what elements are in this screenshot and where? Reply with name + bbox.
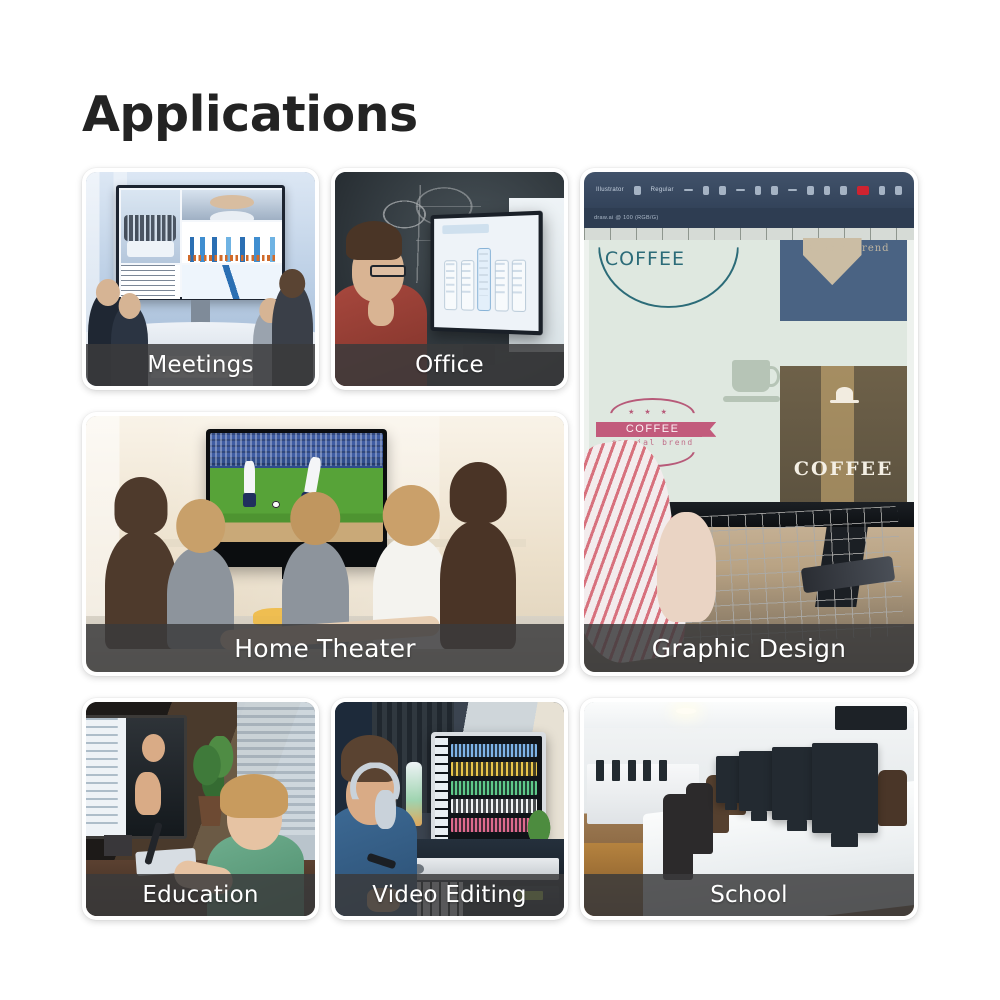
application-card-office[interactable]: Office	[331, 168, 568, 390]
artboard-navy-envelope: special brend	[780, 240, 907, 321]
badge-stars: ★ ★ ★	[628, 408, 671, 416]
video-tile-room	[121, 190, 180, 263]
card-label-video-editing: Video Editing	[335, 874, 564, 916]
signage-word: COFFEE	[780, 458, 907, 480]
ui-mockup-highlighted	[477, 248, 491, 310]
badge-word: COFFEE	[602, 423, 704, 435]
worker-hair	[346, 221, 402, 260]
viewer-head	[291, 492, 341, 545]
divider-icon	[684, 189, 693, 191]
align-icon[interactable]	[703, 186, 710, 195]
video-call-panel	[126, 718, 184, 836]
canvas-heading-coffee: COFFEE	[605, 248, 685, 270]
lab-chair	[663, 794, 693, 880]
back-monitor	[659, 760, 667, 780]
application-card-meetings[interactable]: Meetings	[82, 168, 319, 390]
layers-icon[interactable]	[895, 186, 902, 195]
navy-panel-text: special brend	[808, 243, 890, 254]
card-label-home-theater: Home Theater	[86, 624, 564, 672]
television	[206, 429, 388, 567]
viewer-head	[114, 477, 167, 534]
application-card-education[interactable]: Education	[82, 698, 319, 920]
attendee-head	[279, 269, 305, 298]
card-label-graphic-design: Graphic Design	[584, 624, 914, 672]
toolbar-style-label: Regular	[651, 187, 674, 193]
worker-hand	[368, 295, 394, 327]
stadium-crowd	[210, 433, 384, 466]
desktop-monitor	[430, 210, 542, 335]
applications-grid: Meetings	[82, 168, 918, 920]
card-image-school: School	[584, 702, 914, 916]
viewer-head	[176, 499, 226, 552]
ui-mockup	[511, 259, 525, 311]
document-tab-bar[interactable]: draw.ai @ 100 (RGB/G)	[584, 208, 914, 228]
viewer-head	[383, 485, 440, 546]
typing-hand	[657, 512, 716, 622]
application-card-home-theater[interactable]: Home Theater	[82, 412, 568, 676]
signage-light-strip	[821, 366, 854, 502]
conference-display	[116, 185, 285, 301]
viewer-head	[450, 462, 507, 523]
card-label-office: Office	[335, 344, 564, 386]
artboard-brown-signage: COFFEE	[780, 366, 907, 502]
desktop-monitor	[86, 715, 187, 839]
video-tile-bar-chart	[182, 222, 282, 262]
monitor-stand	[104, 835, 131, 856]
glasses-icon	[370, 265, 406, 277]
card-image-graphic-design: Illustrator Regular	[584, 172, 914, 672]
coffee-cup-icon	[732, 360, 770, 391]
teacher-hand	[135, 772, 160, 815]
transform-icon[interactable]	[719, 186, 726, 195]
back-monitor	[612, 760, 620, 780]
ui-mockup	[494, 259, 508, 311]
document-tab-label: draw.ai @ 100 (RGB/G)	[594, 215, 658, 221]
divider-icon	[788, 189, 797, 191]
saucer-shape	[723, 396, 780, 402]
waveform-track-2	[451, 762, 537, 776]
applications-page: Applications	[0, 0, 1000, 1000]
application-card-video-editing[interactable]: Video Editing	[331, 698, 568, 920]
teacher-face	[142, 734, 165, 762]
wall-mounted-display	[835, 706, 908, 730]
back-monitor	[628, 760, 636, 780]
ui-mockup	[444, 260, 457, 310]
fill-color-swatch[interactable]	[857, 186, 869, 195]
bowler-hat-icon	[836, 387, 853, 399]
waveform-track-1	[451, 744, 537, 758]
card-image-education: Education	[86, 702, 315, 916]
attendee-head	[96, 279, 120, 307]
card-image-meetings: Meetings	[86, 172, 315, 386]
video-tile-person	[182, 190, 282, 221]
scene-graphic-design: Illustrator Regular	[584, 172, 914, 672]
toolbar-app-name: Illustrator	[596, 187, 624, 193]
card-label-meetings: Meetings	[86, 344, 315, 386]
chevron-down-icon[interactable]	[634, 186, 641, 195]
canvas-ruler	[584, 228, 914, 240]
arrange-icon[interactable]	[771, 186, 778, 195]
card-image-video-editing: Video Editing	[335, 702, 564, 916]
back-monitor	[643, 760, 651, 780]
student-hair	[220, 774, 288, 818]
opacity-icon[interactable]	[879, 186, 886, 195]
headphone-earcup	[375, 790, 396, 829]
back-monitor	[596, 760, 604, 780]
align-left-icon[interactable]	[807, 186, 814, 195]
align-center-icon[interactable]	[824, 186, 831, 195]
page-title: Applications	[82, 86, 418, 143]
attendee-head	[118, 293, 141, 319]
app-toolbar[interactable]: Illustrator Regular	[584, 172, 914, 208]
align-right-icon[interactable]	[840, 186, 847, 195]
card-label-education: Education	[86, 874, 315, 916]
soccer-ball-icon	[272, 501, 280, 509]
lesson-app-panel	[86, 718, 126, 836]
lab-chair	[878, 770, 908, 826]
waveform-track-3	[451, 781, 537, 795]
ceiling-light	[676, 708, 696, 715]
divider-icon	[736, 189, 745, 191]
soccer-player	[244, 461, 254, 494]
lab-monitor	[812, 743, 878, 833]
card-label-school: School	[584, 874, 914, 916]
video-tile-line-chart	[182, 265, 282, 300]
card-image-home-theater: Home Theater	[86, 416, 564, 672]
application-card-school[interactable]: School	[580, 698, 918, 920]
ui-mockup	[460, 259, 473, 309]
card-image-office: Office	[335, 172, 564, 386]
application-card-graphic-design[interactable]: Illustrator Regular	[580, 168, 918, 676]
pen-tool-icon[interactable]	[755, 186, 762, 195]
